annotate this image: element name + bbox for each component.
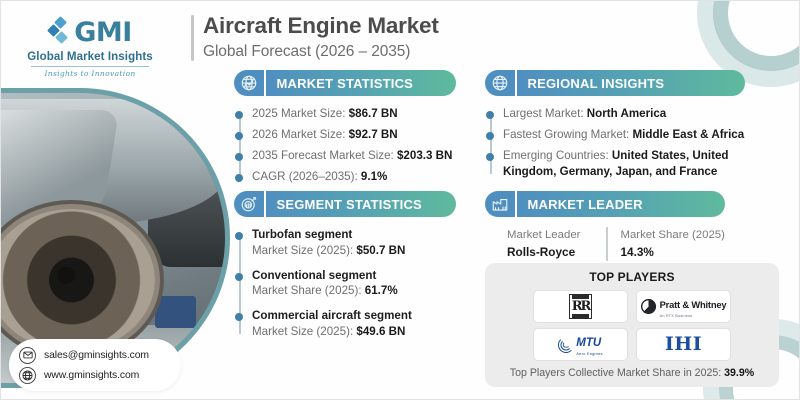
timeline-spine [239,112,241,179]
top-players-footer-value: 39.9% [724,367,754,379]
top-players-title: TOP PLAYERS [495,270,769,284]
market-leader-value: Rolls-Royce [507,244,580,261]
top-players-footer: Top Players Collective Market Share in 2… [495,367,769,379]
list-item: Largest Market: North America [503,106,745,122]
stat-row: Largest Market: North America [503,106,745,122]
logo-wordmark: GMI [74,19,132,46]
rolls-royce-mark: RR [569,294,592,319]
list-item: 2025 Market Size: $86.7 BN [252,106,456,122]
market-statistics-list: 2025 Market Size: $86.7 BN 2026 Market S… [234,106,456,185]
list-item: Fastest Growing Market: Middle East & Af… [503,127,745,143]
stat-key: Emerging Countries: [503,149,612,162]
section-market-leader: MARKET LEADER Market Leader Rolls-Royce … [485,191,725,261]
stat-row: 2026 Market Size: $92.7 BN [252,127,456,143]
market-statistics-header: MARKET STATISTICS [234,70,456,96]
rr-monogram: RR [572,300,590,313]
ihi-wordmark: IHI [665,335,702,354]
bullet-dot [486,132,494,140]
contact-website[interactable]: www.gminsights.com [44,370,139,381]
list-item: 2026 Market Size: $92.7 BN [252,127,456,143]
segment-key: Market Share (2025): [252,284,365,297]
logo-tagline: Insights to Innovation [15,69,165,78]
corner-arc-top-right-inner [729,0,800,55]
mtu-name: MTU [576,337,601,349]
mtu-arcs-icon [558,337,574,353]
bullet-dot [235,313,243,321]
segment-value: 61.7% [365,284,398,297]
globe-icon [485,70,515,96]
globe-chart-icon [234,70,264,96]
regional-insights-header: REGIONAL INSIGHTS [485,70,745,96]
market-share-key: Market Share (2025) [620,227,724,244]
market-leader-label: MARKET LEADER [517,191,726,217]
gmi-logo: GMI Global Market Insights Insights to I… [15,17,165,78]
stat-key: Fastest Growing Market: [503,128,633,141]
list-item: 2035 Forecast Market Size: $203.3 BN [252,148,456,164]
rolls-royce-logo[interactable]: RR [533,290,628,323]
market-leader-values: Market Leader Rolls-Royce Market Share (… [485,227,725,261]
bullet-dot [235,174,243,182]
stat-row: 2025 Market Size: $86.7 BN [252,106,456,122]
mtu-text-block: MTU Aero Engines [576,333,602,356]
list-item: Turbofan segment Market Size (2025): $50… [252,227,456,259]
segment-metric: Market Size (2025): $50.7 BN [252,243,456,259]
bullet-dot [235,132,243,140]
contact-website-row[interactable]: www.gminsights.com [19,367,181,384]
market-leader-header: MARKET LEADER [485,191,725,217]
stat-value: North America [587,107,666,120]
market-leader-key: Market Leader [507,227,580,244]
stat-value: Middle East & Africa [633,128,745,141]
segment-metric: Market Size (2025): $49.6 BN [252,324,456,340]
stat-value: $86.7 BN [349,107,398,120]
stat-row: Fastest Growing Market: Middle East & Af… [503,127,745,143]
stat-key: 2025 Market Size: [252,107,349,120]
top-players-logo-grid: RR Pratt & Whitney An RTX Business [533,290,731,361]
contact-footer: sales@gminsights.com www.gminsights.com [9,339,181,391]
stat-row: 2035 Forecast Market Size: $203.3 BN [252,148,456,164]
market-leader-name-col: Market Leader Rolls-Royce [507,227,580,261]
segment-title: Commercial aircraft segment [252,308,456,324]
envelope-icon [19,347,36,364]
mtu-logo[interactable]: MTU Aero Engines [533,328,628,361]
pratt-whitney-text-block: Pratt & Whitney An RTX Business [660,295,727,319]
timeline-spine [490,112,492,174]
segment-key: Market Size (2025): [252,244,356,257]
photo-blue-equipment [155,296,197,328]
stat-key: Largest Market: [503,107,587,120]
rr-bar-bottom [572,314,589,317]
section-segment-statistics: SEGMENT STATISTICS Turbofan segment Mark… [234,191,456,349]
list-item: Commercial aircraft segment Market Size … [252,308,456,340]
pratt-whitney-sub: An RTX Business [660,314,727,318]
page-subtitle: Global Forecast (2026 – 2035) [203,43,439,61]
segment-value: $50.7 BN [356,244,405,257]
bullet-dot [486,153,494,161]
segment-statistics-header: SEGMENT STATISTICS [234,191,456,217]
pratt-whitney-eagle-icon [641,299,656,314]
pratt-whitney-mark: Pratt & Whitney An RTX Business [641,295,727,319]
mtu-mark: MTU Aero Engines [558,333,602,356]
segment-metric: Market Share (2025): 61.7% [252,283,456,299]
bullet-dot [235,153,243,161]
factory-icon [485,191,515,217]
bullet-dot [486,111,494,119]
diamond-icon [48,17,70,47]
globe-icon [19,367,36,384]
stat-key: CAGR (2026–2035): [252,170,361,183]
mtu-sub: Aero Engines [576,351,602,356]
title-accent-bar [191,15,194,61]
top-players-card: TOP PLAYERS RR Pratt & Whitney An RTX Bu… [485,263,779,387]
ihi-logo[interactable]: IHI [636,328,731,361]
stat-key: 2026 Market Size: [252,128,349,141]
segment-title: Turbofan segment [252,227,456,243]
segment-key: Market Size (2025): [252,325,356,338]
segment-title: Conventional segment [252,268,456,284]
section-market-statistics: MARKET STATISTICS 2025 Market Size: $86.… [234,70,456,190]
top-players-footer-key: Top Players Collective Market Share in 2… [510,367,724,379]
segment-statistics-list: Turbofan segment Market Size (2025): $50… [234,227,456,340]
section-regional-insights: REGIONAL INSIGHTS Largest Market: North … [485,70,745,185]
list-item: Conventional segment Market Share (2025)… [252,268,456,300]
pratt-whitney-logo[interactable]: Pratt & Whitney An RTX Business [636,290,731,323]
list-item: CAGR (2026–2035): 9.1% [252,169,456,185]
stat-value: 9.1% [361,170,387,183]
page-title: Aircraft Engine Market [203,13,439,39]
segment-value: $49.6 BN [356,325,405,338]
logo-mark-row: GMI [15,17,165,47]
bullet-dot [235,273,243,281]
stat-key: 2035 Forecast Market Size: [252,149,397,162]
stat-row: CAGR (2026–2035): 9.1% [252,169,456,185]
bullet-dot [235,111,243,119]
segment-statistics-label: SEGMENT STATISTICS [266,191,457,217]
page-title-block: Aircraft Engine Market Global Forecast (… [191,13,439,61]
infographic-canvas: GMI Global Market Insights Insights to I… [0,0,800,400]
regional-insights-list: Largest Market: North America Fastest Gr… [485,106,745,180]
contact-email[interactable]: sales@gminsights.com [44,350,149,361]
logo-divider [31,66,149,67]
logo-company-name: Global Market Insights [15,51,165,63]
contact-email-row[interactable]: sales@gminsights.com [19,347,181,364]
stat-value: $203.3 BN [397,149,452,162]
bullet-dot [235,232,243,240]
stat-value: $92.7 BN [349,128,398,141]
market-leader-share-col: Market Share (2025) 14.3% [606,227,724,261]
stat-row: Emerging Countries: United States, Unite… [503,148,745,180]
list-item: Emerging Countries: United States, Unite… [503,148,745,180]
pratt-whitney-name: Pratt & Whitney [660,299,727,310]
market-statistics-label: MARKET STATISTICS [266,70,457,96]
market-share-value: 14.3% [620,244,724,261]
corner-arc-top-right-mid [713,0,800,71]
regional-insights-label: REGIONAL INSIGHTS [517,70,746,96]
target-chart-icon [234,191,264,217]
